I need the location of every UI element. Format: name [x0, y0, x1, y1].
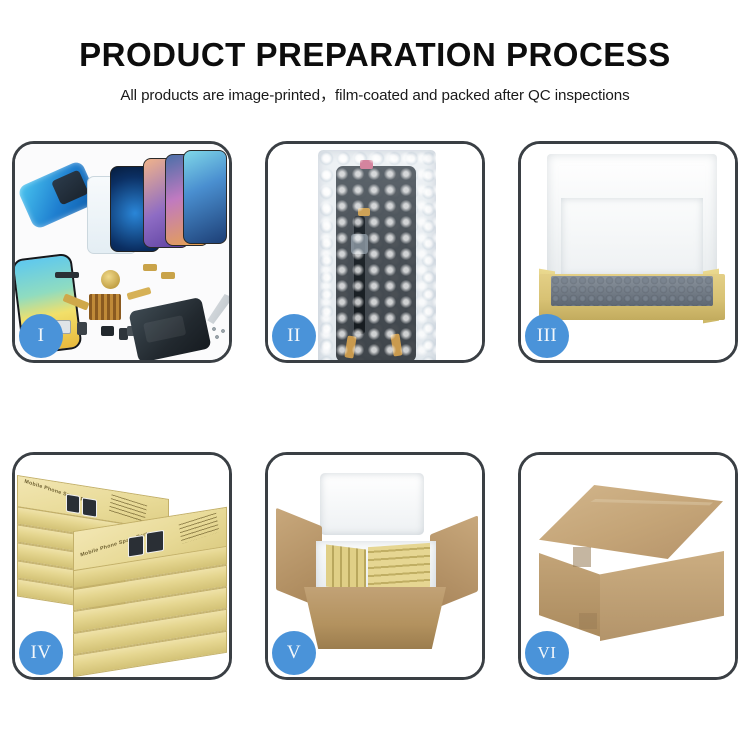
step-badge-1: I [19, 314, 63, 358]
step-badge-5: V [272, 631, 316, 675]
foam-lid-icon [547, 154, 717, 282]
box-artwork-phone-icon [82, 497, 97, 517]
process-step-card-6: VI [518, 452, 738, 680]
header: PRODUCT PREPARATION PROCESS All products… [0, 0, 750, 105]
screws-icon [211, 326, 229, 340]
retail-boxes-in-foam-icon [326, 545, 366, 592]
small-part-icon [143, 264, 157, 271]
phone-screen-icon [183, 150, 227, 244]
process-step-card-4: Mobile Phone Spare Parts Mobile Pho [12, 452, 232, 680]
process-step-card-3: III [518, 141, 738, 363]
step-badge-4: IV [19, 631, 63, 675]
small-part-icon [55, 272, 79, 278]
box-artwork-phone-icon [66, 494, 80, 514]
carton-tab-icon [579, 613, 597, 629]
foam-lid-open-icon [320, 473, 424, 535]
carton-tab-icon [573, 547, 591, 567]
process-step-card-1: I [12, 141, 232, 363]
bubble-wrapped-contents-icon [551, 276, 713, 306]
retail-boxes-in-foam-icon [368, 543, 430, 591]
connector-grid-icon [89, 294, 121, 320]
process-step-card-5: V [265, 452, 485, 680]
step-badge-3: III [525, 314, 569, 358]
box-artwork-phone-icon [146, 530, 164, 554]
step-badge-2: II [272, 314, 316, 358]
step-badge-6: VI [525, 631, 569, 675]
process-step-card-2: II [265, 141, 485, 363]
product-preparation-infographic: PRODUCT PREPARATION PROCESS All products… [0, 0, 750, 750]
small-part-icon [161, 272, 175, 279]
small-part-icon [101, 326, 114, 336]
box-artwork-phone-icon [128, 535, 144, 558]
bubble-texture-overlay [318, 150, 436, 360]
page-subtitle: All products are image-printed，film-coat… [0, 74, 750, 105]
process-step-grid: I II [12, 141, 738, 680]
speaker-component-icon [101, 270, 120, 289]
small-part-icon [77, 322, 87, 335]
carton-body-icon [304, 587, 446, 649]
page-title: PRODUCT PREPARATION PROCESS [0, 0, 750, 74]
